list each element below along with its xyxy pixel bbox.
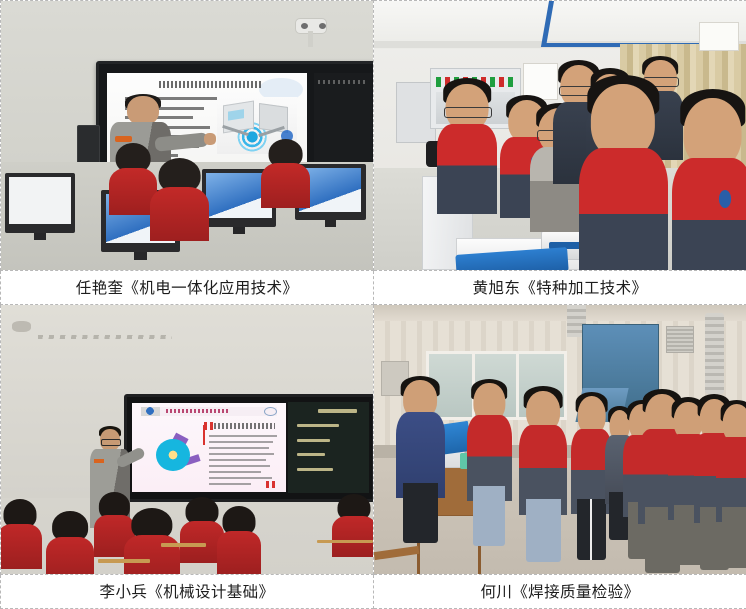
student-row-1d (124, 508, 180, 574)
quote-open-icon (204, 422, 213, 429)
slide-bicycle-logo-icon (142, 405, 157, 417)
photo-mechanical-design-classroom (1, 305, 373, 574)
desk-2 (317, 540, 373, 544)
photo-cell-special-machining (374, 1, 746, 271)
photo-grid-table: 任艳奎《机电一体化应用技术》 黄旭东《特种加工技术》 (0, 0, 746, 609)
wall-patch (12, 321, 31, 332)
computer-desk-row (1, 162, 373, 269)
photo-row-bottom (1, 304, 746, 574)
photo-mechatronics-classroom (1, 1, 373, 270)
caption-mechanical-design: 李小兵《机械设计基础》 (1, 575, 373, 608)
photo-cell-welding-inspection (374, 304, 746, 574)
student-row-1b (46, 511, 94, 573)
student-audience (1, 485, 373, 574)
desk-1 (161, 543, 206, 547)
presentation-screen (132, 403, 287, 493)
lab-window (699, 22, 738, 51)
photo-cell-mechatronics (1, 1, 374, 271)
photo-welding-inspection-yard (374, 305, 746, 574)
student-operating (467, 383, 512, 490)
student-row-1f (217, 506, 262, 568)
caption-cell-mechatronics: 任艳奎《机电一体化应用技术》 (1, 270, 374, 304)
caption-row-top: 任艳奎《机电一体化应用技术》 黄旭东《特种加工技术》 (1, 270, 746, 304)
student-watching-a (519, 391, 567, 504)
caption-cell-mechanical-design: 李小兵《机械设计基础》 (1, 574, 374, 608)
photo-grid-document: 任艳奎《机电一体化应用技术》 黄旭东《特种加工技术》 (0, 0, 746, 609)
caption-special-machining: 黄旭东《特种加工技术》 (374, 271, 746, 304)
wall-vent (666, 326, 694, 352)
wall-crack (38, 335, 172, 339)
student-queue-d (716, 404, 746, 511)
slide-title-text (166, 409, 228, 413)
student-left-glasses (437, 84, 497, 202)
slide-subhead (214, 423, 276, 428)
camera-mount (308, 31, 314, 47)
student-row-1a (1, 499, 42, 561)
photo-row-top (1, 1, 746, 271)
student-3 (261, 139, 309, 203)
monitor-1 (5, 173, 76, 233)
caption-cell-special-machining: 黄旭东《特种加工技术》 (374, 270, 746, 304)
spiral-duct (705, 313, 724, 394)
student-foreground-red (579, 84, 668, 269)
photo-special-machining-lab (374, 1, 746, 270)
instructor-blue-coverall (396, 380, 444, 487)
student-foreground-right (672, 98, 746, 270)
caption-welding-inspection: 何川《焊接质量检验》 (374, 575, 746, 608)
slide-title-bar (159, 81, 263, 89)
student-2 (150, 158, 210, 235)
desk-3 (98, 559, 150, 563)
roof-edge (374, 305, 746, 321)
belt-pulley-illustration (156, 439, 190, 471)
slide-body-text (209, 435, 277, 473)
caption-cell-welding-inspection: 何川《焊接质量检验》 (374, 574, 746, 608)
caption-row-bottom: 李小兵《机械设计基础》 何川《焊接质量检验》 (1, 574, 746, 608)
photo-cell-mechanical-design (1, 304, 374, 574)
caption-mechatronics: 任艳奎《机电一体化应用技术》 (1, 271, 373, 304)
blackboard-panel (288, 402, 369, 493)
